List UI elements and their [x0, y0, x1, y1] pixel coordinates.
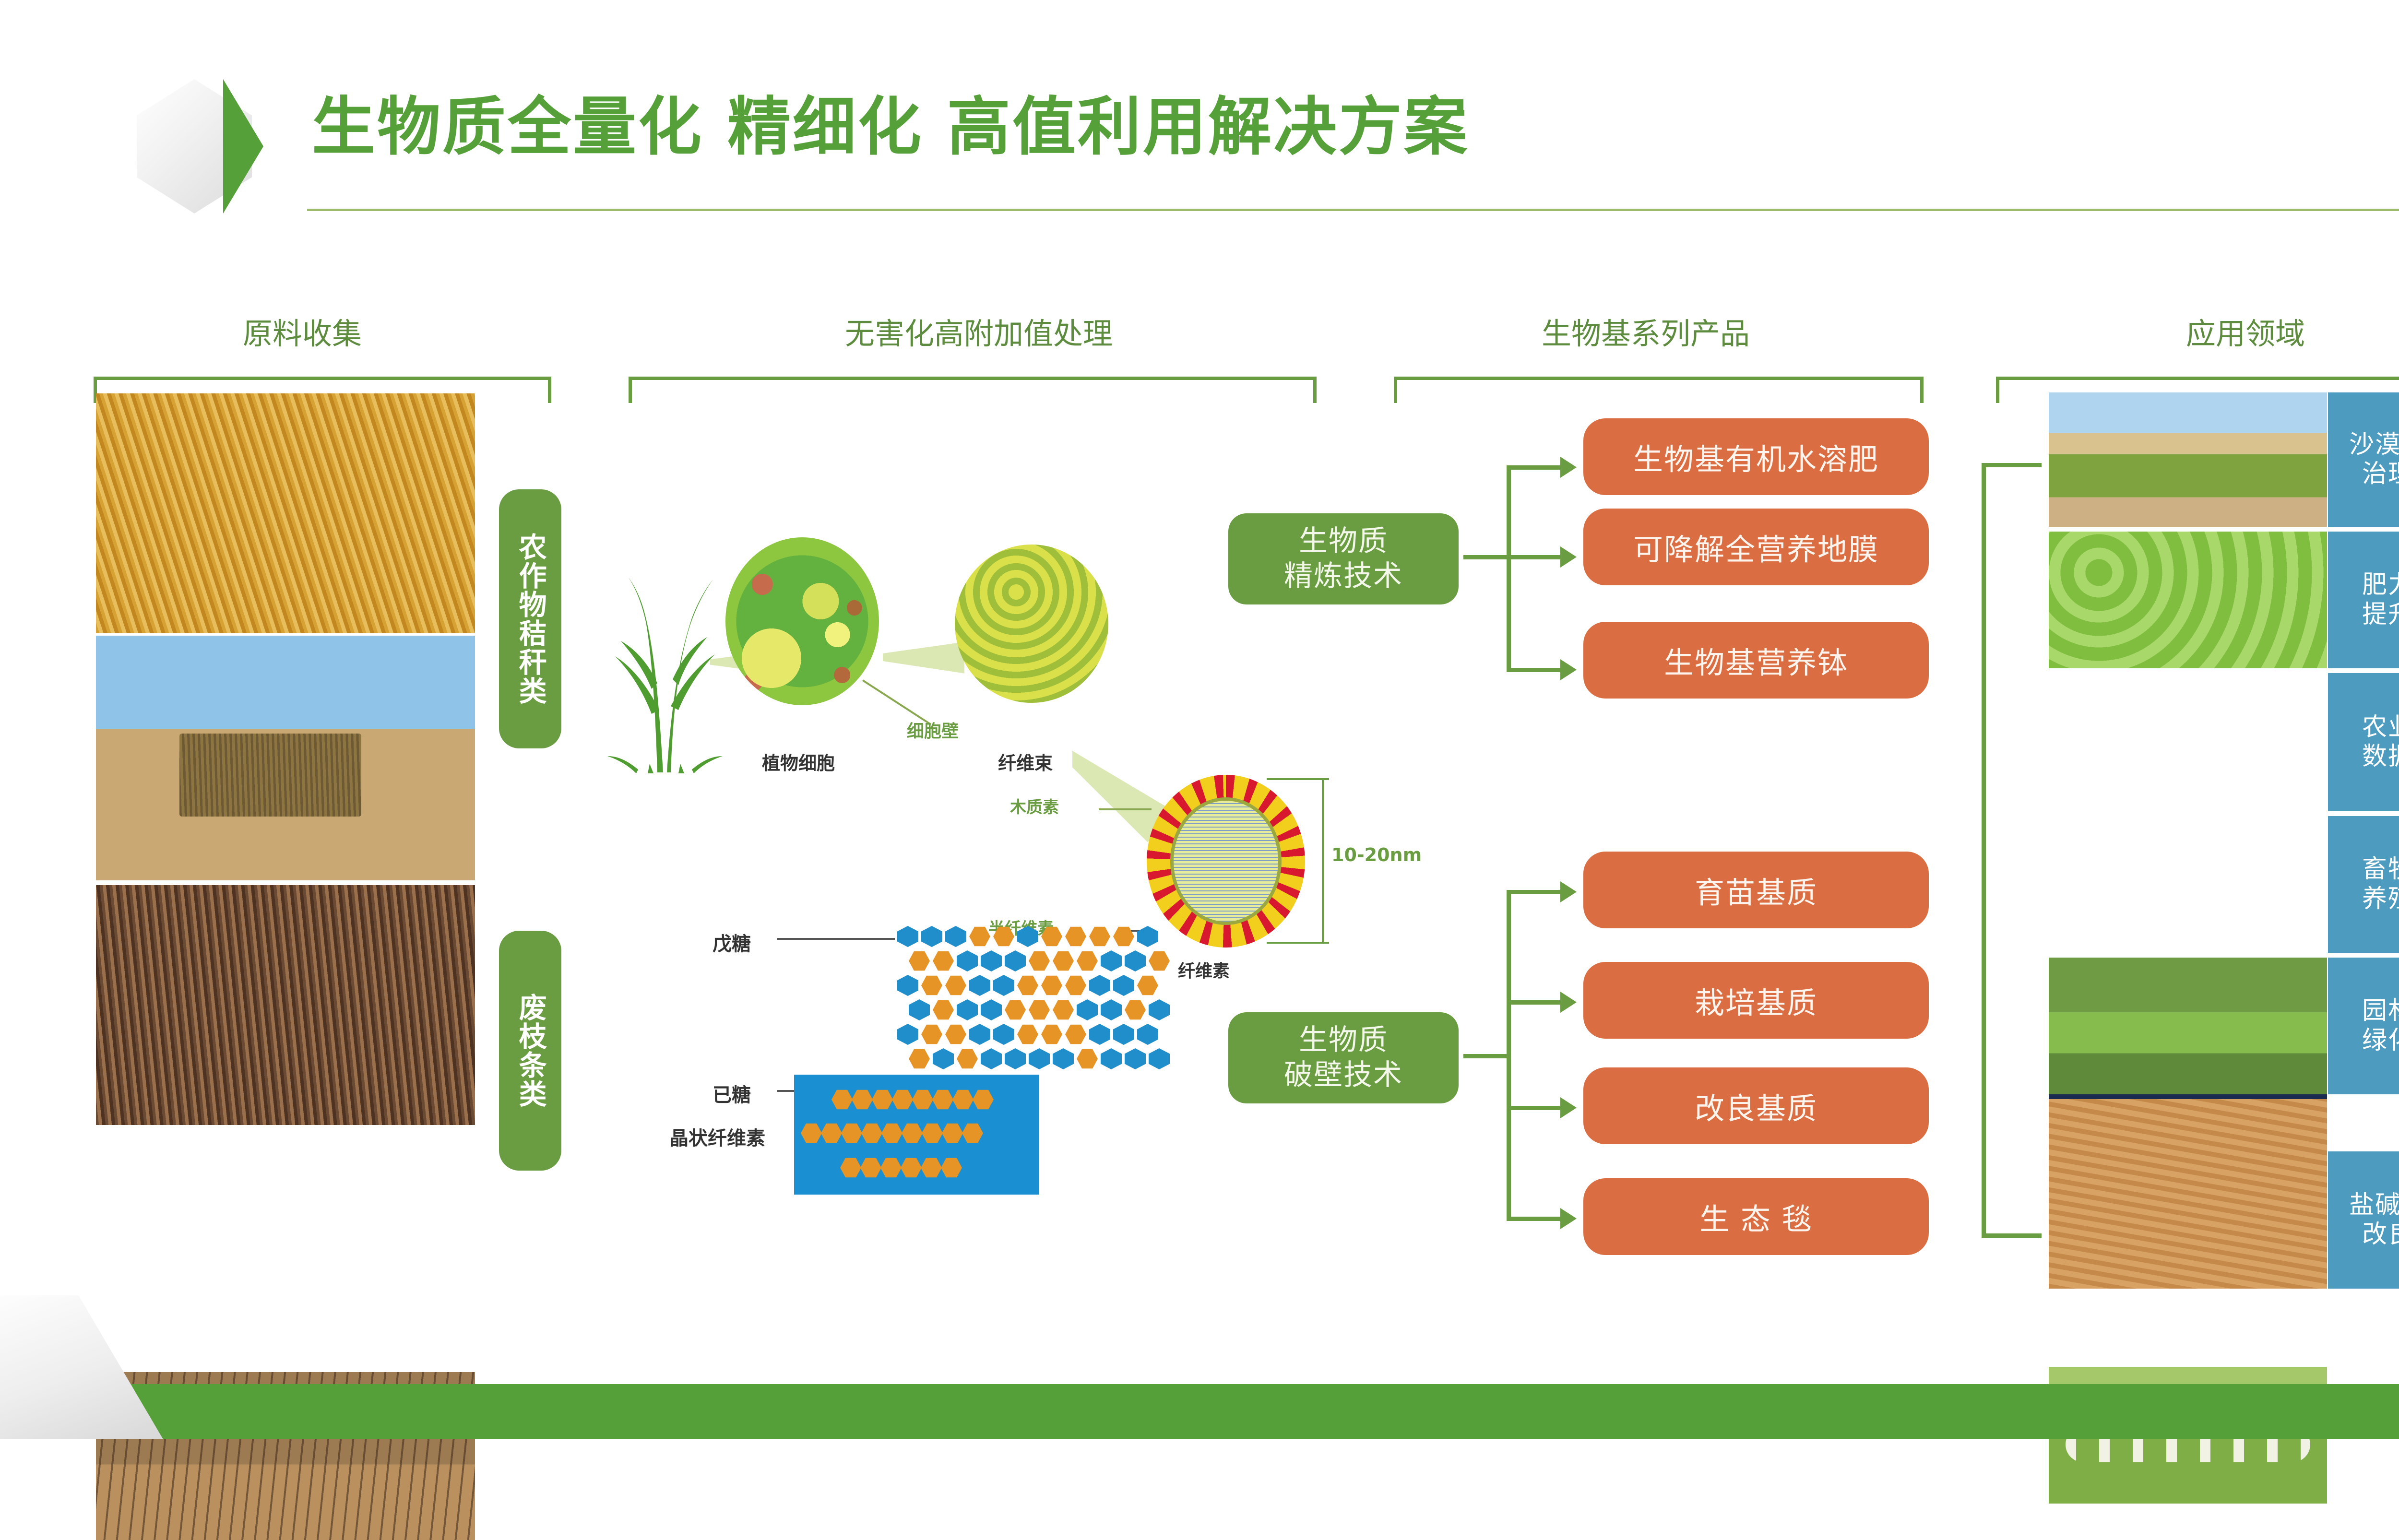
dimension-cap-bottom [1267, 942, 1329, 944]
cellulose-unit-icon [962, 1123, 983, 1144]
slide-canvas: 生物质全量化 精细化 高值利用解决方案 原料收集 无害化高附加值处理 生物基系列… [0, 0, 2399, 1439]
label-lignin: 木质素 [1010, 794, 1059, 817]
sugar-chain-diagram [897, 926, 1170, 1073]
photo-landscape-greening [2049, 958, 2327, 1094]
photo-crop-straw-field [96, 393, 475, 633]
application-desertification-control[interactable]: 沙漠化 治理 [2328, 392, 2399, 527]
photo-saline-alkali-land [2049, 1099, 2327, 1289]
pentose-unit-icon [1077, 999, 1098, 1020]
crystalline-cellulose-panel [794, 1075, 1039, 1195]
tech-line-1: 生物质 [1299, 1023, 1388, 1058]
pentose-unit-icon [921, 926, 942, 947]
hexose-unit-icon [1113, 926, 1134, 947]
pentose-unit-icon [1089, 1024, 1110, 1045]
connector-tech1-branch-3 [1507, 668, 1562, 672]
cellulose-unit-icon [942, 1123, 963, 1144]
cellulose-unit-icon [973, 1089, 994, 1110]
connector-tech1-branch-2 [1507, 555, 1562, 559]
zoom-beam-fiber [883, 638, 964, 676]
pentose-unit-icon [969, 1024, 990, 1045]
sugar-chain-row [909, 950, 1170, 971]
app-line-1: 盐碱地 [2349, 1191, 2399, 1220]
tech-line-2: 精炼技术 [1284, 559, 1403, 594]
arrow-icon-product-6 [1560, 1097, 1577, 1118]
product-cultivation-substrate[interactable]: 栽培基质 [1583, 962, 1929, 1039]
pentose-unit-icon [993, 1024, 1014, 1045]
product-ecological-blanket[interactable]: 生 态 毯 [1583, 1178, 1929, 1255]
tech-line-2: 破壁技术 [1284, 1058, 1403, 1093]
bracket-products [1394, 377, 1924, 403]
hexose-unit-icon [1065, 926, 1086, 947]
app-line-2: 绿化 [2362, 1026, 2399, 1055]
applications-bracket-top [1982, 463, 2042, 467]
hexose-unit-icon [909, 1048, 930, 1069]
label-plant-cell: 植物细胞 [762, 748, 835, 775]
hexose-unit-icon [1065, 975, 1086, 996]
hexose-unit-icon [1005, 999, 1026, 1020]
connector-tech1-branch-1 [1507, 465, 1562, 470]
pentose-unit-icon [981, 999, 1002, 1020]
pentose-unit-icon [1053, 1048, 1074, 1069]
cellulose-unit-icon [901, 1157, 922, 1178]
pentose-unit-icon [1089, 975, 1110, 996]
bracket-processing [629, 377, 1317, 403]
plant-illustration-icon [600, 518, 734, 782]
column-heading-products: 生物基系列产品 [1382, 309, 1910, 353]
cellulose-nanofiber-illustration [1147, 775, 1305, 948]
cellulose-unit-icon [872, 1089, 893, 1110]
pentose-unit-icon [969, 975, 990, 996]
pentose-unit-icon [981, 950, 1002, 971]
hexose-unit-icon [909, 950, 930, 971]
sugar-chain-row [897, 1024, 1170, 1045]
cellulose-core [1170, 797, 1282, 925]
pentose-unit-icon [897, 1024, 918, 1045]
hexose-unit-icon [1089, 926, 1110, 947]
pentose-unit-icon [1113, 975, 1134, 996]
feedstock-category-straw[interactable]: 农作物秸秆类 [499, 489, 561, 748]
pentose-unit-icon [1125, 1048, 1146, 1069]
cellulose-unit-icon [860, 1157, 881, 1178]
hexose-unit-icon [957, 1048, 978, 1069]
column-heading-processing: 无害化高附加值处理 [624, 309, 1334, 353]
connector-tech2-branch-1 [1507, 890, 1562, 894]
arrow-icon-product-4 [1560, 881, 1577, 902]
pentose-unit-icon [1125, 950, 1146, 971]
app-line-2: 改良 [2362, 1220, 2399, 1249]
pentose-unit-icon [1149, 1048, 1170, 1069]
cellulose-unit-icon [852, 1089, 873, 1110]
hexose-unit-icon [945, 975, 966, 996]
hexose-unit-icon [1041, 926, 1062, 947]
pentose-unit-icon [1005, 950, 1026, 971]
label-fiber-bundle: 纤维束 [998, 748, 1053, 775]
hexose-unit-icon [1017, 1024, 1038, 1045]
connector-tech1-spine [1507, 465, 1511, 672]
arrow-icon-product-7 [1560, 1208, 1577, 1229]
pentose-unit-icon [897, 975, 918, 996]
hexose-unit-icon [933, 950, 954, 971]
dimension-cap-top [1267, 778, 1329, 780]
label-pentose: 戊糖 [713, 928, 751, 956]
product-nutrient-pot[interactable]: 生物基营养钵 [1583, 622, 1929, 699]
application-fertility-improvement[interactable]: 肥力 提升 [2328, 532, 2399, 668]
hexose-unit-icon [993, 926, 1014, 947]
product-seedling-substrate[interactable]: 育苗基质 [1583, 852, 1929, 928]
arrow-icon-product-5 [1560, 992, 1577, 1013]
pentose-unit-icon [981, 1048, 1002, 1069]
page-title: 生物质全量化 精细化 高值利用解决方案 [312, 91, 1469, 164]
cellulose-unit-icon [921, 1157, 942, 1178]
pentose-unit-icon [1101, 1048, 1122, 1069]
pentose-unit-icon [1029, 1048, 1050, 1069]
application-landscape-greening[interactable]: 园林 绿化 [2328, 958, 2399, 1094]
cellulose-unit-icon [840, 1157, 861, 1178]
app-line-2: 数据 [2362, 742, 2399, 771]
arrow-icon-product-2 [1560, 546, 1577, 568]
hexose-unit-icon [1029, 999, 1050, 1020]
app-line-2: 提升 [2362, 600, 2399, 629]
hexose-unit-icon [1017, 975, 1038, 996]
hexose-unit-icon [1125, 999, 1146, 1020]
cellulose-unit-icon [841, 1123, 862, 1144]
app-line-2: 养殖 [2362, 885, 2399, 914]
hexose-unit-icon [921, 975, 942, 996]
label-cellulose: 纤维素 [1178, 957, 1230, 982]
app-line-2: 治理 [2362, 460, 2399, 489]
cellulose-unit-icon [861, 1123, 882, 1144]
cellulose-unit-icon [941, 1157, 962, 1178]
applications-bracket-bottom [1982, 1233, 2042, 1238]
pentose-unit-icon [957, 999, 978, 1020]
column-heading-applications: 应用领域 [2006, 309, 2399, 353]
hexose-unit-icon [1053, 950, 1074, 971]
cellulose-unit-icon [892, 1089, 913, 1110]
app-line-1: 畜牧 [2362, 855, 2399, 884]
dimension-line [1322, 778, 1324, 944]
hexose-unit-icon [1041, 1024, 1062, 1045]
pentose-unit-icon [957, 950, 978, 971]
pentose-unit-icon [945, 926, 966, 947]
arrow-icon-product-1 [1560, 457, 1577, 478]
connector-tech2-spine [1507, 890, 1511, 1221]
cellulose-unit-icon [831, 1089, 853, 1110]
sugar-chain-row [897, 975, 1170, 996]
pentose-unit-icon [1113, 1024, 1134, 1045]
app-line-1: 农业 [2362, 713, 2399, 742]
application-livestock-breeding[interactable]: 畜牧 养殖 [2328, 816, 2399, 953]
pentose-unit-icon [897, 926, 918, 947]
hexose-unit-icon [1041, 975, 1062, 996]
app-line-1: 沙漠化 [2349, 430, 2399, 460]
chevron-arrow-icon [223, 79, 295, 213]
photo-straw-bale [96, 636, 475, 880]
arrow-icon-product-3 [1560, 659, 1577, 680]
label-hexose: 已糖 [713, 1079, 751, 1107]
fiber-bundle-illustration [955, 545, 1108, 703]
hexose-unit-icon [1137, 975, 1158, 996]
hexose-unit-icon [1077, 1048, 1098, 1069]
product-improvement-substrate[interactable]: 改良基质 [1583, 1067, 1929, 1144]
cellulose-unit-icon [912, 1089, 933, 1110]
pentose-unit-icon [993, 975, 1014, 996]
sugar-chain-row [909, 1048, 1170, 1069]
connector-tech2-branch-3 [1507, 1106, 1562, 1110]
cellulose-unit-icon [880, 1157, 902, 1178]
sugar-chain-row [897, 926, 1170, 947]
hexose-unit-icon [921, 1024, 942, 1045]
pentose-unit-icon [933, 1048, 954, 1069]
label-cell-wall: 细胞壁 [907, 717, 959, 742]
hexose-unit-icon [969, 926, 990, 947]
footer-corner-shape [0, 1295, 163, 1439]
hexose-unit-icon [933, 999, 954, 1020]
app-line-1: 肥力 [2362, 570, 2399, 600]
tech-line-1: 生物质 [1299, 524, 1388, 559]
photo-desertification-control [2049, 392, 2327, 527]
leader-line-lignin [1099, 808, 1152, 810]
cellulose-unit-icon [902, 1123, 923, 1144]
hexose-unit-icon [1077, 950, 1098, 971]
pentose-unit-icon [1017, 926, 1038, 947]
connector-tech2-branch-4 [1507, 1217, 1562, 1221]
hexose-unit-icon [1149, 950, 1170, 971]
pentose-unit-icon [1101, 999, 1122, 1020]
application-agricultural-data[interactable]: 农业 数据 [2328, 673, 2399, 811]
pentose-unit-icon [1149, 999, 1170, 1020]
title-underline-rule [307, 209, 2399, 211]
technology-cellwall-breaking[interactable]: 生物质 破壁技术 [1228, 1012, 1459, 1103]
sugar-chain-row [909, 999, 1170, 1020]
label-crystalline-cellulose: 晶状纤维素 [669, 1123, 765, 1150]
pentose-unit-icon [1137, 926, 1158, 947]
application-saline-land-improvement[interactable]: 盐碱地 改良 [2328, 1151, 2399, 1289]
product-degradable-mulch-film[interactable]: 可降解全营养地膜 [1583, 509, 1929, 585]
cellulose-unit-icon [922, 1123, 943, 1144]
pentose-unit-icon [909, 999, 930, 1020]
cellulose-unit-icon [821, 1123, 842, 1144]
cellulose-unit-icon [881, 1123, 903, 1144]
pentose-unit-icon [1005, 1048, 1026, 1069]
hexose-unit-icon [1053, 999, 1074, 1020]
cellulose-unit-icon [932, 1089, 953, 1110]
footer-bar [0, 1384, 2399, 1439]
pentose-unit-icon [1137, 1024, 1158, 1045]
applications-bracket-spine [1982, 463, 1986, 1238]
plant-cell-illustration [725, 537, 879, 705]
cellulose-unit-icon [952, 1089, 974, 1110]
pentose-unit-icon [1101, 950, 1122, 971]
hexose-unit-icon [1065, 1024, 1086, 1045]
label-nano-scale: 10-20nm [1331, 844, 1422, 865]
cellulose-unit-icon [801, 1123, 822, 1144]
connector-tech1-stem [1463, 555, 1509, 559]
feedstock-category-branches[interactable]: 废枝条类 [499, 931, 561, 1171]
column-heading-collection: 原料收集 [125, 309, 480, 353]
app-line-1: 园林 [2362, 996, 2399, 1026]
leader-line-pentose [777, 938, 895, 940]
hexose-unit-icon [1029, 950, 1050, 971]
photo-waste-branches [96, 885, 475, 1125]
technology-biorefining[interactable]: 生物质 精炼技术 [1228, 513, 1459, 604]
connector-tech2-branch-2 [1507, 1000, 1562, 1005]
photo-soil-fertility [2049, 532, 2327, 668]
product-water-soluble-fertilizer[interactable]: 生物基有机水溶肥 [1583, 418, 1929, 495]
connector-tech2-stem [1463, 1054, 1509, 1058]
hexose-unit-icon [945, 1024, 966, 1045]
